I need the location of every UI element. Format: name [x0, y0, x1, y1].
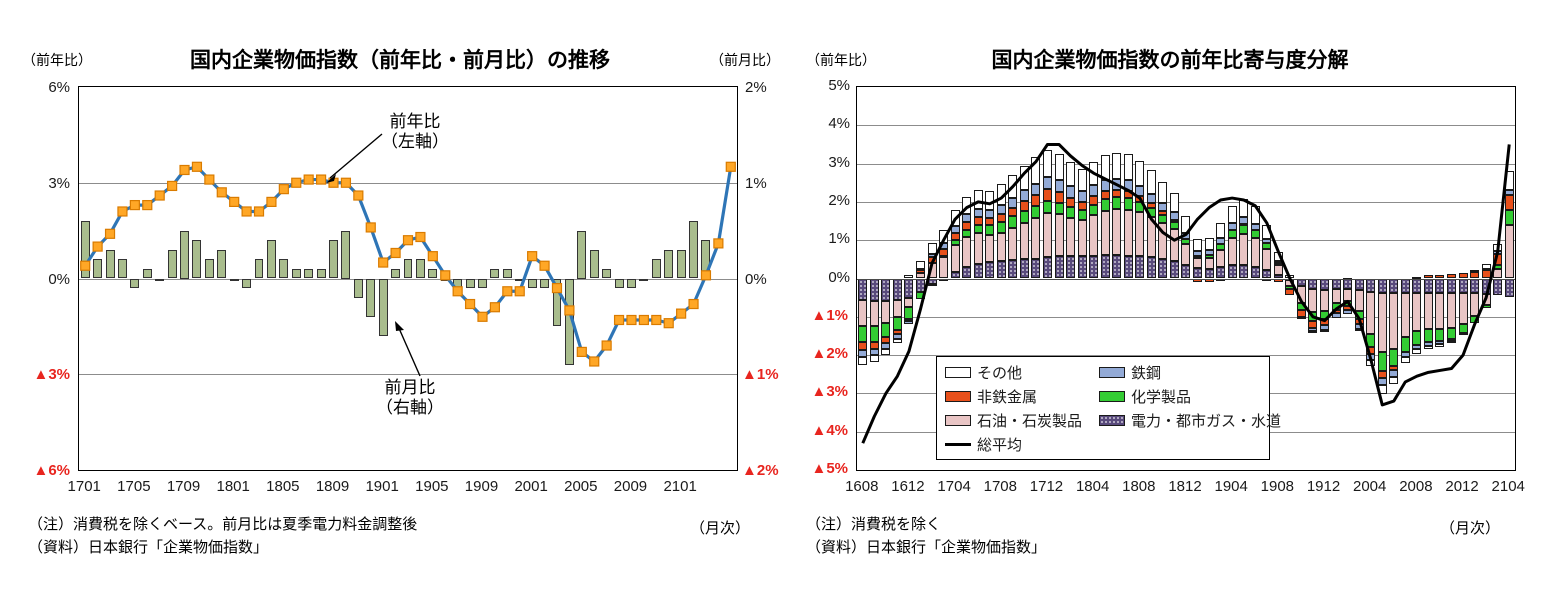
yoy-marker	[155, 191, 164, 200]
left-ytick-3: ▲3%	[8, 366, 70, 383]
legend-item[interactable]: 総平均	[945, 434, 1095, 455]
left-ytick-2: 0%	[10, 271, 70, 288]
yoy-marker	[391, 248, 400, 257]
legend-label: 総平均	[977, 434, 1022, 455]
left-chart-y2tick-0: 2%	[745, 79, 795, 96]
legend-swatch-oil	[945, 415, 971, 426]
annotation-mom-arrow-icon	[388, 318, 428, 380]
yoy-marker	[714, 239, 723, 248]
yoy-marker	[93, 242, 102, 251]
left-chart-panel: （前年比） （前月比） 国内企業物価指数（前年比・前月比）の推移 6% 3% 0…	[0, 0, 790, 596]
right-chart-ytick: ▲1%	[790, 307, 848, 324]
yoy-marker	[503, 287, 512, 296]
yoy-marker	[416, 233, 425, 242]
annotation-mom-line2: （右軸）	[350, 398, 470, 418]
right-chart-unit-label: （前年比）	[806, 50, 876, 70]
yoy-marker	[118, 207, 127, 216]
left-chart-y2tick-1: 1%	[745, 175, 795, 192]
yoy-marker	[366, 223, 375, 232]
legend-item[interactable]: 鉄鋼	[1099, 362, 1269, 383]
yoy-marker	[664, 319, 673, 328]
right-chart-panel: （前年比） 国内企業物価指数の前年比寄与度分解 5%4%3%2%1%0%▲1%▲…	[790, 0, 1543, 596]
legend-label: その他	[977, 362, 1022, 383]
right-chart-xtick: 2104	[1478, 478, 1538, 495]
right-chart-frequency: （月次）	[1440, 517, 1500, 538]
left-chart-frequency: （月次）	[690, 517, 750, 538]
yoy-marker	[143, 201, 152, 210]
yoy-marker	[577, 347, 586, 356]
annotation-mom: 前月比 （右軸）	[350, 378, 470, 419]
legend-swatch-other	[945, 367, 971, 378]
left-chart-title: 国内企業物価指数（前年比・前月比）の推移	[120, 44, 680, 74]
right-chart-ytick: ▲4%	[790, 422, 848, 439]
right-chart-ytick: 0%	[792, 269, 850, 286]
left-ytick-1: 3%	[10, 175, 70, 192]
yoy-marker	[639, 315, 648, 324]
yoy-marker	[478, 312, 487, 321]
legend-item[interactable]: その他	[945, 362, 1095, 383]
right-chart-ytick: ▲2%	[790, 345, 848, 362]
left-ytick-0: 6%	[10, 79, 70, 96]
legend-item[interactable]: 石油・石炭製品	[945, 410, 1095, 431]
legend-item[interactable]: 非鉄金属	[945, 386, 1095, 407]
right-chart-legend: その他鉄鋼非鉄金属化学製品石油・石炭製品電力・都市ガス・水道総平均	[936, 356, 1270, 460]
right-chart-note: （注）消費税を除く	[806, 513, 941, 534]
yoy-marker	[590, 357, 599, 366]
yoy-marker	[528, 252, 537, 261]
yoy-marker	[677, 309, 686, 318]
yoy-marker	[627, 315, 636, 324]
yoy-marker	[304, 175, 313, 184]
left-chart-note: （注）消費税を除くベース。前月比は夏季電力料金調整後	[28, 513, 417, 534]
yoy-marker	[615, 315, 624, 324]
yoy-marker	[354, 191, 363, 200]
annotation-yoy-arrow-icon	[320, 130, 390, 190]
yoy-marker	[230, 197, 239, 206]
yoy-marker	[255, 207, 264, 216]
legend-label: 非鉄金属	[977, 386, 1037, 407]
legend-item[interactable]: 化学製品	[1099, 386, 1269, 407]
yoy-marker	[379, 258, 388, 267]
yoy-marker	[552, 284, 561, 293]
legend-swatch-nonferrous	[945, 391, 971, 402]
legend-label: 鉄鋼	[1131, 362, 1161, 383]
right-chart-ytick: ▲5%	[790, 460, 848, 477]
right-chart-source: （資料）日本銀行「企業物価指数」	[806, 536, 1046, 557]
right-chart-ytick: 2%	[792, 192, 850, 209]
legend-swatch-chem	[1099, 391, 1125, 402]
left-chart-right-unit-label: （前月比）	[710, 50, 780, 70]
yoy-marker	[515, 287, 524, 296]
right-chart-title: 国内企業物価指数の前年比寄与度分解	[890, 44, 1450, 74]
left-ytick-4: ▲6%	[8, 462, 70, 479]
yoy-marker	[453, 287, 462, 296]
yoy-marker	[404, 236, 413, 245]
legend-label: 電力・都市ガス・水道	[1131, 410, 1281, 431]
left-chart-source: （資料）日本銀行「企業物価指数」	[28, 536, 268, 557]
yoy-marker	[428, 252, 437, 261]
left-chart-xtick: 2101	[650, 478, 710, 495]
yoy-marker	[267, 197, 276, 206]
left-chart-y2tick-2: 0%	[745, 271, 795, 288]
yoy-marker	[565, 306, 574, 315]
legend-label: 化学製品	[1131, 386, 1191, 407]
yoy-marker	[217, 188, 226, 197]
right-chart-ytick: 1%	[792, 230, 850, 247]
yoy-marker	[540, 261, 549, 270]
yoy-marker	[689, 300, 698, 309]
yoy-marker	[242, 207, 251, 216]
yoy-marker	[168, 181, 177, 190]
yoy-marker	[192, 162, 201, 171]
yoy-marker	[180, 165, 189, 174]
legend-label: 石油・石炭製品	[977, 410, 1082, 431]
yoy-marker	[726, 162, 735, 171]
yoy-marker	[106, 229, 115, 238]
legend-item[interactable]: 電力・都市ガス・水道	[1099, 410, 1269, 431]
gridline	[857, 470, 1515, 471]
yoy-marker	[701, 271, 710, 280]
legend-swatch-total	[945, 443, 971, 446]
left-chart-left-unit-label: （前年比）	[22, 50, 92, 70]
yoy-marker	[602, 341, 611, 350]
legend-swatch-power	[1099, 415, 1125, 426]
right-chart-ytick: ▲3%	[790, 383, 848, 400]
yoy-marker	[205, 175, 214, 184]
left-chart-y2tick-4: ▲2%	[742, 462, 797, 479]
right-chart-ytick: 5%	[792, 77, 850, 94]
yoy-marker	[81, 261, 90, 270]
right-chart-ytick: 4%	[792, 115, 850, 132]
yoy-marker	[490, 303, 499, 312]
annotation-mom-line1: 前月比	[350, 378, 470, 398]
yoy-marker	[292, 178, 301, 187]
yoy-marker	[441, 271, 450, 280]
left-chart-y2tick-3: ▲1%	[742, 366, 797, 383]
yoy-marker	[652, 315, 661, 324]
yoy-marker	[466, 300, 475, 309]
right-chart-ytick: 3%	[792, 154, 850, 171]
yoy-marker	[130, 201, 139, 210]
legend-swatch-steel	[1099, 367, 1125, 378]
yoy-marker	[279, 185, 288, 194]
